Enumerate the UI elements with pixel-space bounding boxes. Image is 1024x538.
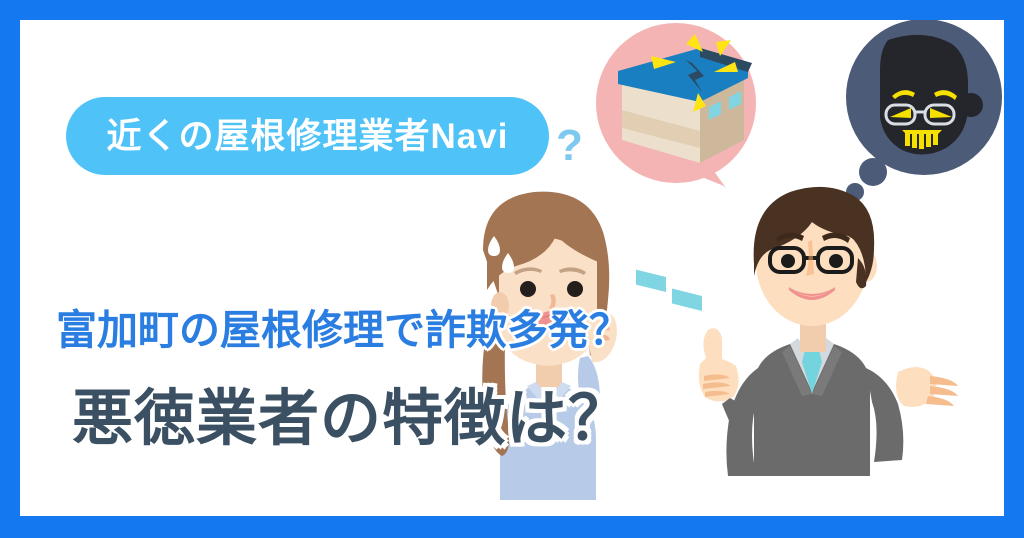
site-name-badge[interactable]: 近くの屋根修理業者Navi — [66, 97, 549, 175]
headline-subtitle: 富加町の屋根修理で詐欺多発？ — [56, 310, 630, 351]
site-name-label: 近くの屋根修理業者Navi — [107, 119, 509, 154]
explaining-businessman-character — [699, 187, 958, 476]
image-content-area: 近くの屋根修理業者Navi ? 富加町の屋根修理で詐欺多発？ 悪徳業者の特徴は？ — [20, 20, 1004, 516]
question-mark-decoration: ? — [556, 124, 583, 168]
headline-title: 悪徳業者の特徴は？ — [72, 388, 630, 449]
image-frame: 近くの屋根修理業者Navi ? 富加町の屋根修理で詐欺多発？ 悪徳業者の特徴は？ — [0, 0, 1024, 538]
